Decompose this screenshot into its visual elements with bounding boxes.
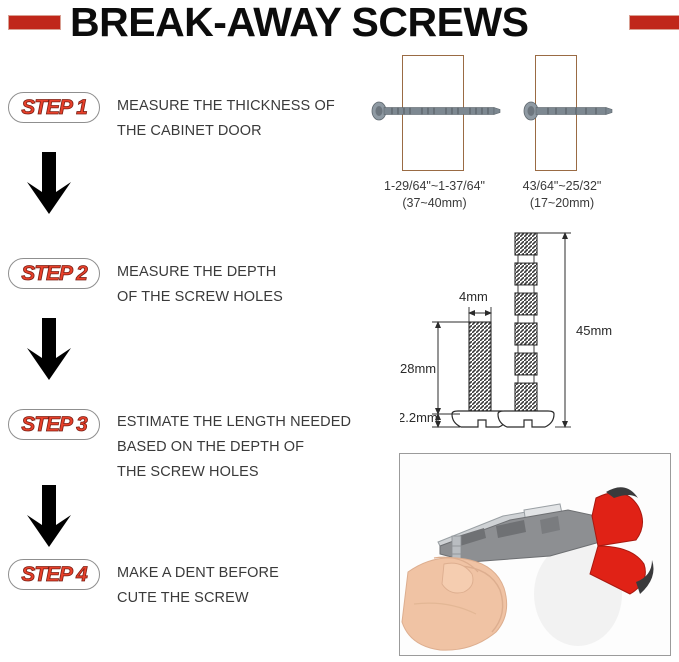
step-badge-4: STEP 4 bbox=[8, 559, 100, 590]
board-caption-thin: 43/64"~25/32" (17~20mm) bbox=[507, 178, 617, 212]
dim-label-thread-length: 28mm bbox=[400, 361, 436, 376]
step-badge-3-label: STEP 3 bbox=[9, 413, 99, 437]
steps-column: STEP 1 MEASURE THE THICKNESS OF THE CABI… bbox=[0, 0, 380, 662]
step-badge-1-label: STEP 1 bbox=[9, 96, 99, 120]
screw-long-through-board-icon bbox=[370, 100, 505, 122]
dim-label-total-length: 45mm bbox=[576, 323, 612, 338]
step-badge-3: STEP 3 bbox=[8, 409, 100, 440]
step-badge-2: STEP 2 bbox=[8, 258, 100, 289]
step-badge-2-label: STEP 2 bbox=[9, 262, 99, 286]
step-badge-4-label: STEP 4 bbox=[9, 563, 99, 587]
down-arrow-1-icon bbox=[21, 152, 77, 218]
photo-content bbox=[400, 454, 670, 655]
step-text-4: MAKE A DENT BEFORE CUTE THE SCREW bbox=[117, 561, 367, 611]
down-arrow-3-icon bbox=[21, 485, 77, 551]
screw-dimension-diagram: 4mm 28mm 2.2mm 45mm bbox=[400, 225, 679, 435]
step-text-2: MEASURE THE DEPTH OF THE SCREW HOLES bbox=[117, 260, 367, 310]
step-badge-1: STEP 1 bbox=[8, 92, 100, 123]
dim-label-head-height: 2.2mm bbox=[400, 410, 438, 425]
step-text-1: MEASURE THE THICKNESS OF THE CABINET DOO… bbox=[117, 94, 367, 144]
dim-label-diameter: 4mm bbox=[459, 289, 488, 304]
board-illustrations: 1-29/64"~1-37/64" (37~40mm) 43/64"~25/32… bbox=[370, 55, 670, 225]
step-text-3: ESTIMATE THE LENGTH NEEDED BASED ON THE … bbox=[117, 410, 372, 485]
pliers-dent-screw-photo bbox=[399, 453, 671, 656]
down-arrow-2-icon bbox=[21, 318, 77, 384]
screw-short-through-board-icon bbox=[522, 100, 622, 122]
board-caption-thick: 1-29/64"~1-37/64" (37~40mm) bbox=[372, 178, 497, 212]
title-dash-right-icon bbox=[629, 15, 679, 30]
